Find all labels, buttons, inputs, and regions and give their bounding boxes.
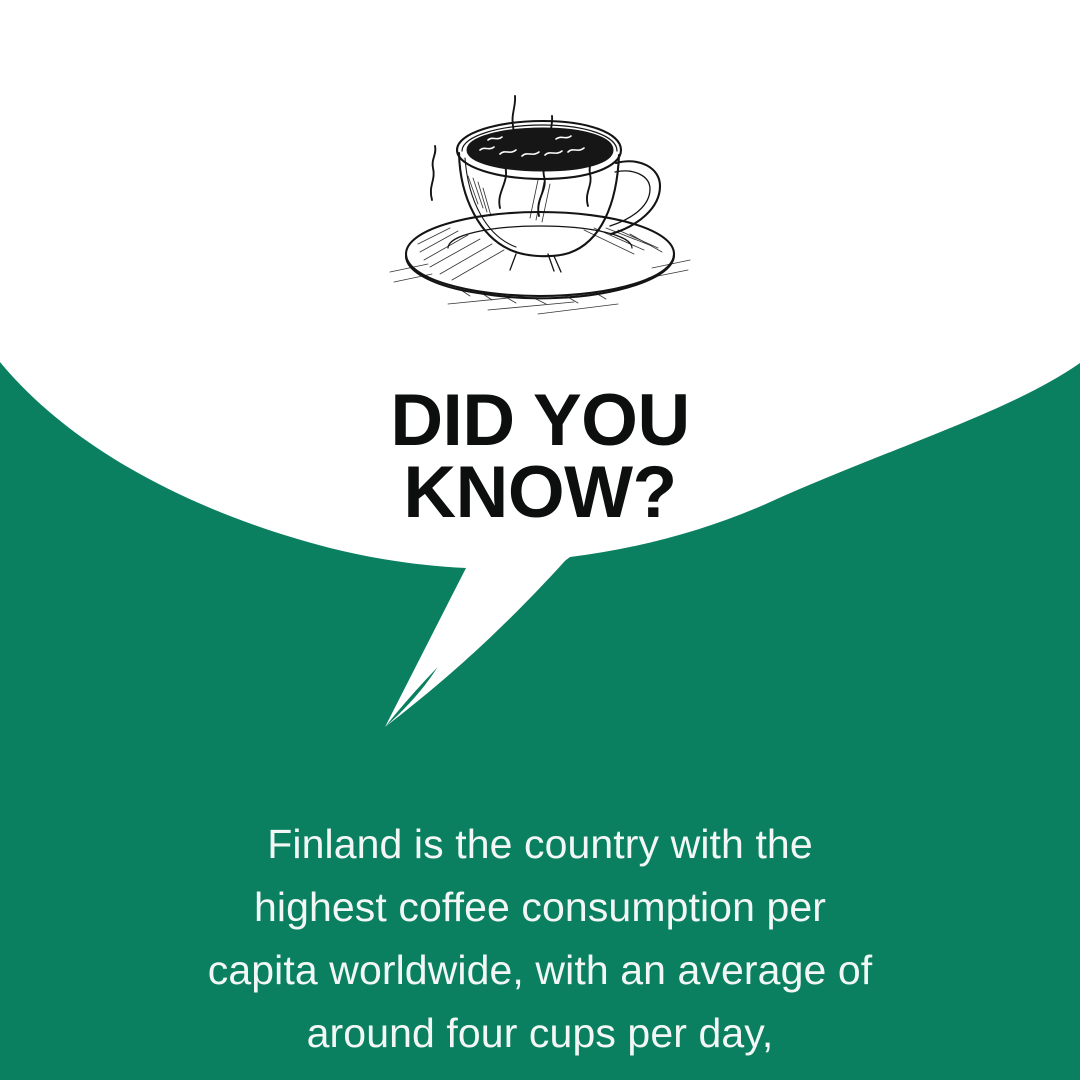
poster-canvas: DID YOU KNOW? Finland is the country wit…	[0, 0, 1080, 1080]
steam-wisp-1	[431, 146, 436, 200]
coffee-cup-sketch	[388, 58, 693, 323]
coffee-surface	[467, 128, 613, 171]
headline-did-you-know: DID YOU KNOW?	[0, 385, 1080, 529]
fact-body-text: Finland is the country with the highest …	[90, 813, 990, 1065]
